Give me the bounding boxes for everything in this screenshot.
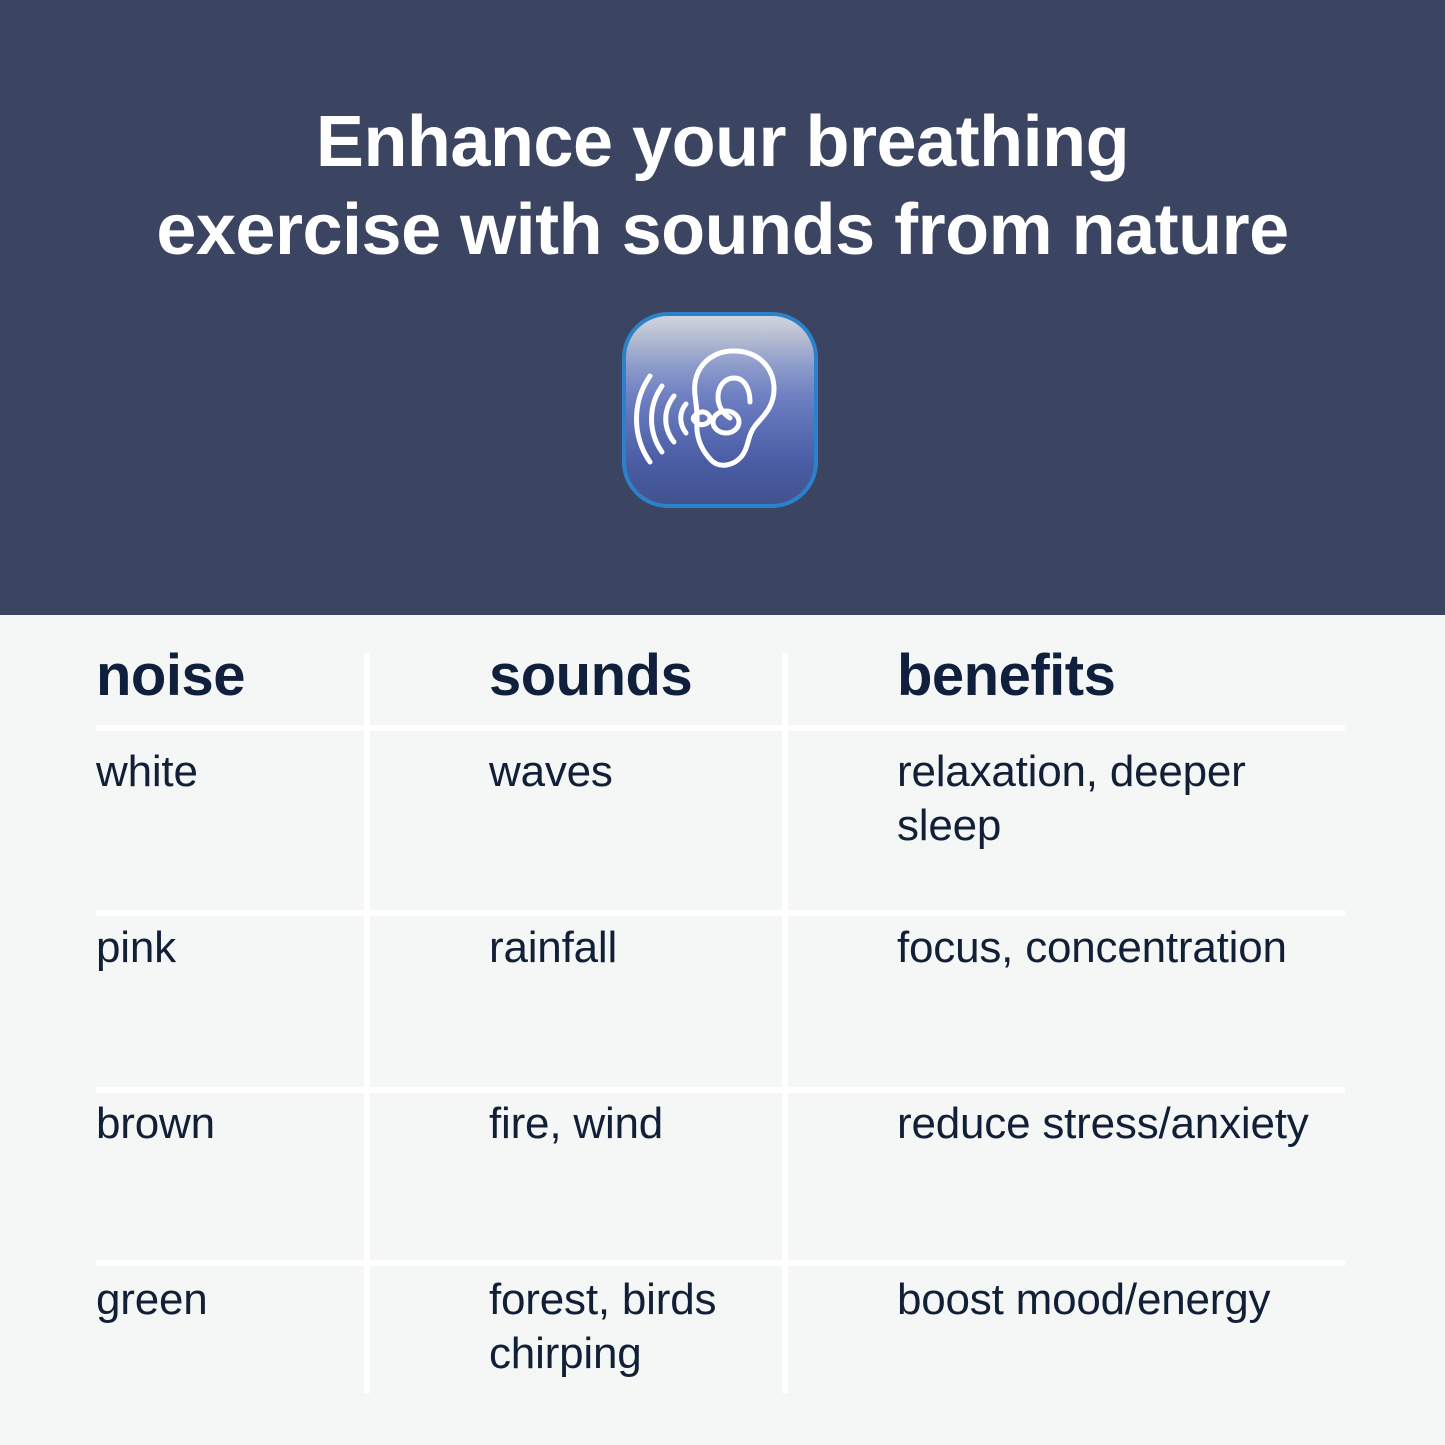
app-icon-container	[622, 312, 818, 508]
cell-benefits: boost mood/energy	[845, 1273, 1345, 1381]
noise-benefits-table: noise sounds benefits white waves relaxa…	[0, 615, 1445, 1445]
cell-sounds: fire, wind	[427, 1097, 845, 1151]
row-divider-0	[96, 725, 1345, 731]
cell-noise: white	[96, 745, 427, 853]
cell-sounds: forest, birds chirping	[427, 1273, 845, 1381]
cell-benefits: reduce stress/anxiety	[845, 1097, 1345, 1151]
table-row: pink rainfall focus, concentration	[96, 921, 1345, 975]
row-divider-3	[96, 1260, 1345, 1266]
cell-noise: brown	[96, 1097, 427, 1151]
table-row: green forest, birds chirping boost mood/…	[96, 1273, 1345, 1381]
hero-section: Enhance your breathing exercise with sou…	[0, 0, 1445, 615]
page-title: Enhance your breathing exercise with sou…	[0, 98, 1445, 274]
column-header-sounds: sounds	[427, 643, 845, 737]
cell-benefits: focus, concentration	[845, 921, 1345, 975]
table-row: white waves relaxation, deeper sleep	[96, 745, 1345, 853]
cell-noise: green	[96, 1273, 427, 1381]
table-row: brown fire, wind reduce stress/anxiety	[96, 1097, 1345, 1151]
cell-sounds: waves	[427, 745, 845, 853]
row-divider-1	[96, 910, 1345, 916]
cell-sounds: rainfall	[427, 921, 845, 975]
ear-sound-waves-icon	[622, 312, 818, 508]
table-header-row: noise sounds benefits	[96, 643, 1345, 737]
column-header-benefits: benefits	[845, 643, 1345, 737]
row-divider-2	[96, 1087, 1345, 1093]
cell-benefits: relaxation, deeper sleep	[845, 745, 1345, 853]
column-header-noise: noise	[96, 643, 427, 737]
infographic-page: Enhance your breathing exercise with sou…	[0, 0, 1445, 1445]
cell-noise: pink	[96, 921, 427, 975]
